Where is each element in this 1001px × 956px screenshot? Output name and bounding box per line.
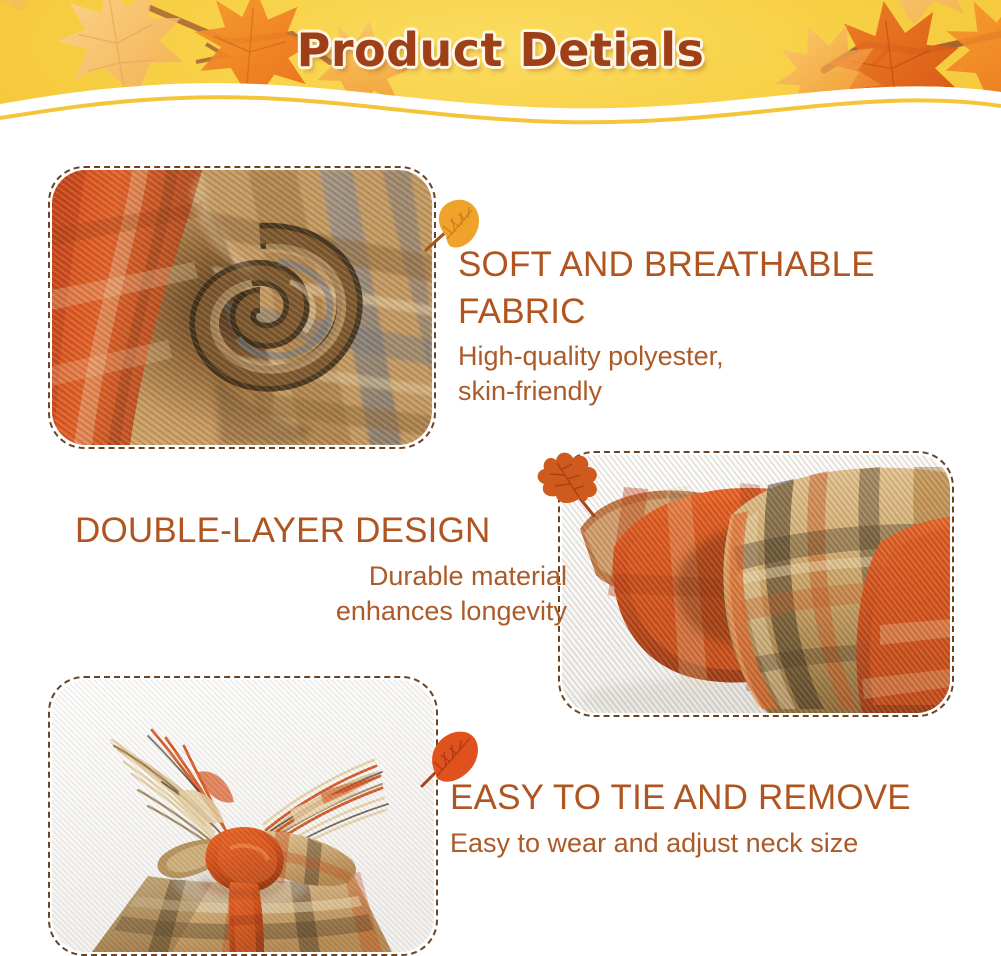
- feature-double-layer-design: DOUBLE-LAYER DESIGN Durable material enh…: [75, 508, 567, 629]
- feature-subtext: Easy to wear and adjust neck size: [450, 826, 995, 861]
- folded-plaid-image: [562, 455, 950, 713]
- feature-soft-and-breathable-fabric: SOFT AND BREATHABLE FABRIC High-quality …: [458, 242, 978, 409]
- feature-subtext: Durable material enhances longevity: [75, 559, 567, 629]
- leaf-birch-icon: [418, 192, 488, 262]
- feature-heading: DOUBLE-LAYER DESIGN: [75, 508, 567, 555]
- feature-heading: EASY TO TIE AND REMOVE: [450, 775, 995, 822]
- feature-heading: SOFT AND BREATHABLE FABRIC: [458, 242, 978, 335]
- swirled-plaid-image: [52, 170, 432, 445]
- leaf-pointed-icon: [412, 724, 488, 800]
- banner-wave: [0, 83, 1001, 136]
- feature-subtext: High-quality polyester, skin-friendly: [458, 339, 978, 409]
- product-photo-folded-plaid-layers: [562, 455, 950, 713]
- tied-knot-image: [52, 680, 434, 952]
- leaf-oak-icon: [530, 446, 608, 524]
- header-banner: Product Detials: [0, 0, 1001, 136]
- feature-easy-to-tie-and-remove: EASY TO TIE AND REMOVE Easy to wear and …: [450, 775, 995, 861]
- page-title: Product Detials: [0, 23, 1001, 77]
- product-photo-swirled-plaid-fabric: [52, 170, 432, 445]
- product-photo-tied-fringe-knot: [52, 680, 434, 952]
